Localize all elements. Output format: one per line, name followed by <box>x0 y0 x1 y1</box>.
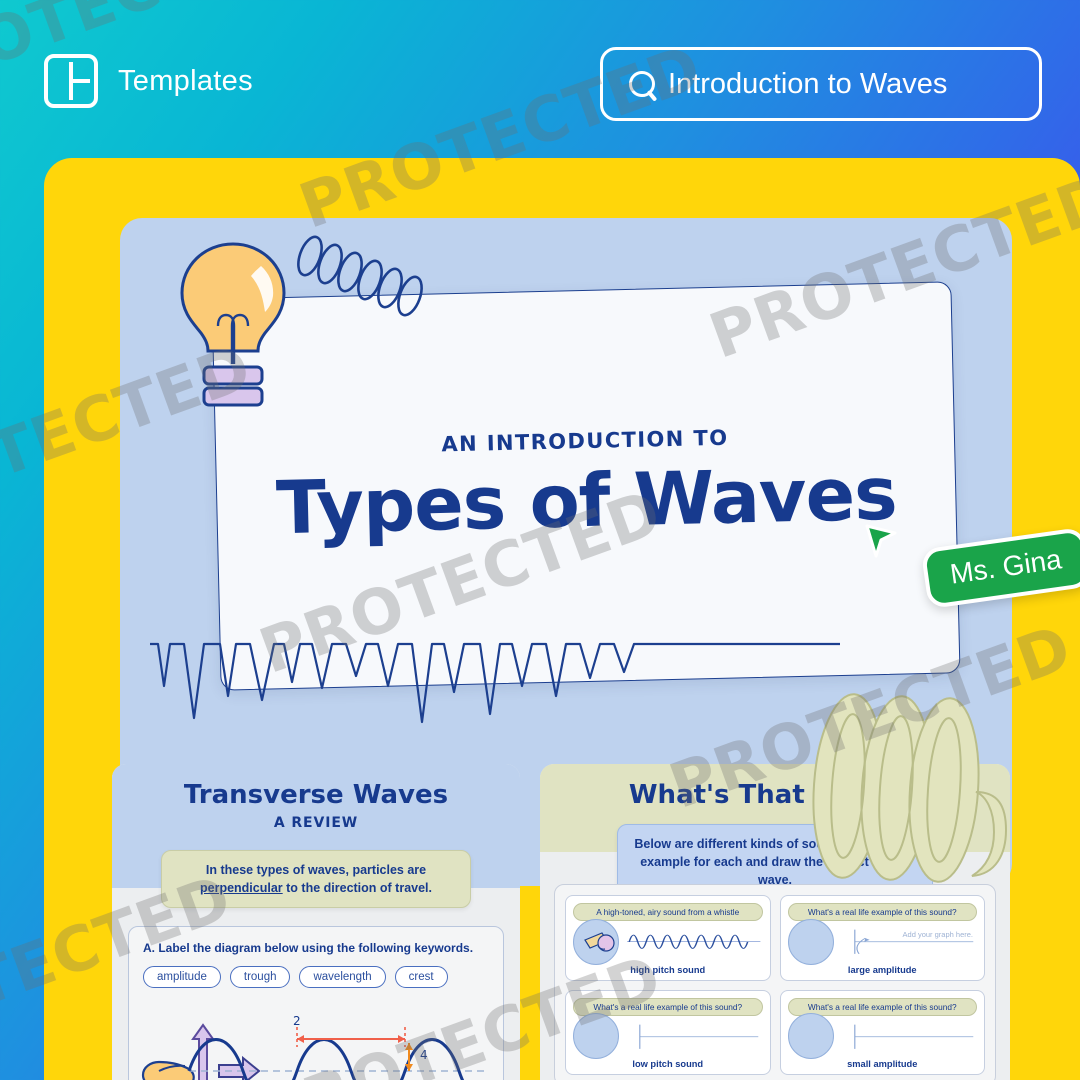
search-icon <box>629 71 655 97</box>
worksheet-question: A. Label the diagram below using the fol… <box>143 941 489 955</box>
worksheet-callout: In these types of waves, particles are p… <box>161 850 471 908</box>
high-frequency-wave <box>625 926 763 958</box>
templates-layout-icon <box>44 54 98 108</box>
sound-card[interactable]: What's a real life example of this sound… <box>780 990 986 1076</box>
whistle-icon <box>573 919 619 965</box>
template-sheet: AN INTRODUCTION TO Types of Waves Ms. Gi… <box>44 158 1080 1080</box>
callout-text-post: to the direction of travel. <box>283 881 432 895</box>
empty-circle-icon[interactable] <box>573 1013 619 1059</box>
keyword-pill[interactable]: crest <box>395 966 448 988</box>
brand-block[interactable]: Templates <box>44 54 253 108</box>
keyword-pill-group: amplitude trough wavelength crest <box>143 966 489 988</box>
search-input-value[interactable]: Introduction to Waves <box>668 68 947 101</box>
sound-card-caption: low pitch sound <box>566 1059 770 1069</box>
empty-circle-icon[interactable] <box>788 919 834 965</box>
blank-axes[interactable] <box>625 1021 763 1053</box>
keyword-pill[interactable]: amplitude <box>143 966 221 988</box>
hero-kicker: AN INTRODUCTION TO <box>441 425 729 456</box>
worksheet-transverse-waves[interactable]: Transverse Waves A REVIEW In these types… <box>112 764 520 1080</box>
worksheet-subtitle: A REVIEW <box>112 815 520 831</box>
callout-text-pre: In these types of waves, particles are <box>206 863 426 877</box>
callout-text-emphasis: perpendicular <box>200 881 283 895</box>
worksheet-body-panel: A. Label the diagram below using the fol… <box>128 926 504 1080</box>
coil-doodle <box>294 232 434 322</box>
sound-card-chip[interactable]: What's a real life example of this sound… <box>788 903 978 921</box>
sound-card-caption: small amplitude <box>781 1059 985 1069</box>
keyword-pill[interactable]: trough <box>230 966 291 988</box>
cursor-pointer-icon <box>864 523 898 559</box>
lightbulb-illustration <box>168 236 298 421</box>
keyword-pill[interactable]: wavelength <box>299 966 385 988</box>
sound-card-caption: large amplitude <box>781 965 985 975</box>
sound-card[interactable]: What's a real life example of this sound… <box>565 990 771 1076</box>
sound-card-chip[interactable]: A high-toned, airy sound from a whistle <box>573 903 763 921</box>
sound-card-grid: A high-toned, airy sound from a whistle <box>554 884 996 1080</box>
diagram-label-2: 2 <box>293 1014 301 1028</box>
blank-axes[interactable] <box>840 1021 978 1053</box>
sound-card[interactable]: A high-toned, airy sound from a whistle <box>565 895 771 981</box>
transverse-wave-diagram: 1 2 3 4 <box>137 1013 497 1080</box>
search-bar[interactable]: Introduction to Waves <box>600 47 1042 121</box>
waveform-doodle <box>150 536 840 736</box>
sound-card[interactable]: What's a real life example of this sound… <box>780 895 986 981</box>
empty-circle-icon[interactable] <box>788 1013 834 1059</box>
graph-hint-text: Add your graph here. <box>903 930 973 939</box>
brand-label: Templates <box>118 65 253 98</box>
app-header: Templates Introduction to Waves <box>0 0 1080 158</box>
worksheet-title: Transverse Waves <box>112 780 520 810</box>
spring-illustration <box>800 688 1012 886</box>
diagram-label-4: 4 <box>420 1048 428 1062</box>
sound-card-caption: high pitch sound <box>566 965 770 975</box>
